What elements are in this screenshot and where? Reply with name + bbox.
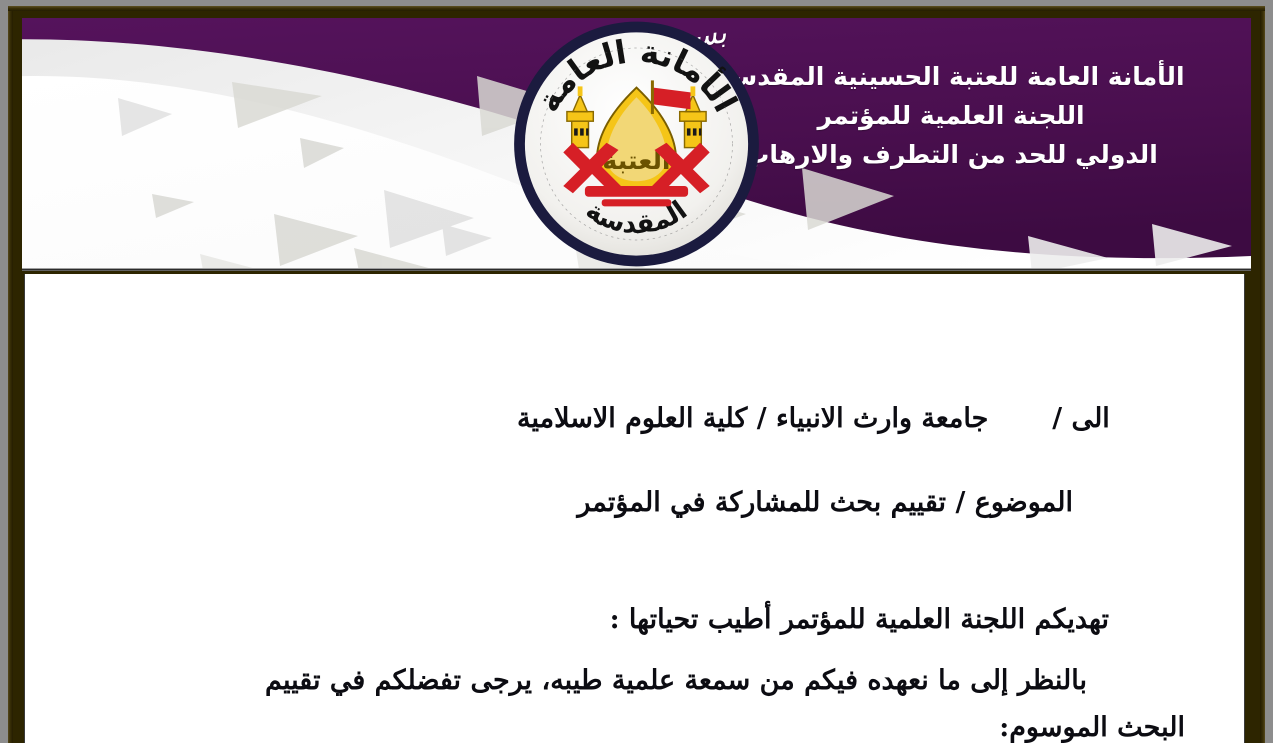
page-border-top: [8, 6, 1265, 11]
paragraph-line-1: بالنظر إلى ما نعهده فيكم من سمعة علمية ط…: [84, 665, 1185, 696]
header-body-divider: [22, 268, 1251, 271]
letter-body: الى /جامعة وارث الانبياء / كلية العلوم ا…: [24, 274, 1245, 743]
page-border-right: [1260, 6, 1265, 743]
recipient-line: الى /جامعة وارث الانبياء / كلية العلوم ا…: [84, 372, 1185, 465]
organization-logo-icon: الأمانة العامة المقدسة: [22, 18, 1251, 270]
page-border-left: [8, 6, 13, 743]
recipient-value: جامعة وارث الانبياء / كلية العلوم الاسلا…: [517, 403, 988, 434]
letter-text-block: الى /جامعة وارث الانبياء / كلية العلوم ا…: [84, 372, 1185, 743]
document-page: بسمه تعالى الأمانة العامة للعتبة الحسيني…: [0, 0, 1273, 743]
recipient-label: الى /: [1052, 403, 1110, 434]
subject-line: الموضوع / تقييم بحث للمشاركة في المؤتمر: [84, 487, 1185, 518]
greeting-line: تهديكم اللجنة العلمية للمؤتمر أطيب تحيات…: [84, 604, 1185, 635]
header-banner: بسمه تعالى الأمانة العامة للعتبة الحسيني…: [22, 18, 1251, 270]
paragraph-line-2: البحث الموسوم:: [84, 712, 1185, 743]
